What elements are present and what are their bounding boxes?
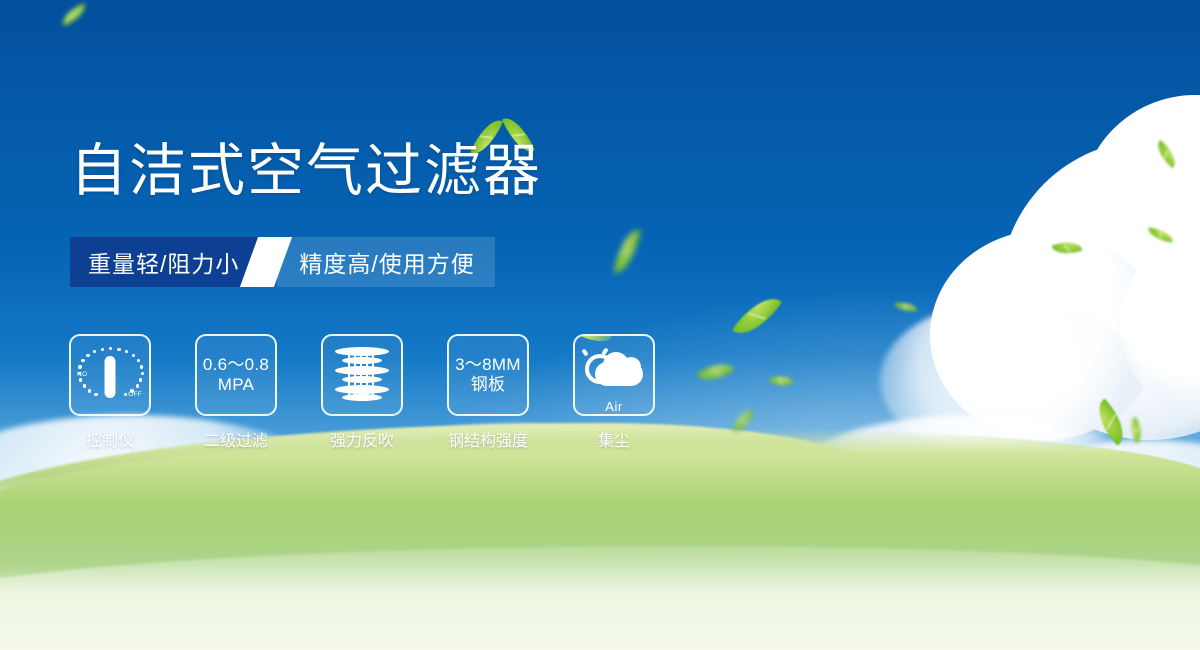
gauge-icon: NO OFF (79, 344, 141, 406)
cloud-bump-2 (621, 357, 641, 377)
steel-plate-text-icon: 3～8MM 钢板 (455, 355, 521, 395)
gauge-off-label: OFF (128, 391, 142, 398)
feature-icon-box: Air (573, 334, 655, 416)
grass-light-sheen (0, 507, 1200, 650)
steel-line-2: 钢板 (455, 375, 521, 395)
gauge-on-label: NO (77, 371, 87, 378)
feature-item-pressure[interactable]: 0.6～0.8 MPA 二级过滤 (196, 334, 276, 451)
feature-label: 集尘 (598, 427, 630, 451)
page-title: 自洁式空气过滤器 (70, 143, 542, 200)
feature-icon-box: NO OFF (69, 334, 151, 416)
cloud-air-icon: Air (583, 348, 645, 402)
feature-label: 二级过滤 (204, 427, 268, 451)
feature-label: 钢结构强度 (448, 427, 528, 451)
feature-item-steel[interactable]: 3～8MM 钢板 钢结构强度 (448, 334, 528, 451)
subtitle-bar: 重量轻/阻力小 精度高/使用方便 (70, 237, 495, 287)
product-banner: 自洁式空气过滤器 重量轻/阻力小 精度高/使用方便 (0, 0, 1200, 650)
pressure-text-icon: 0.6～0.8 MPA (203, 355, 269, 395)
feature-label: 控制仪 (86, 427, 134, 451)
feature-item-dust[interactable]: Air 集尘 (574, 334, 654, 451)
feature-icon-box: 0.6～0.8 MPA (195, 334, 277, 416)
filter-coil-icon (335, 347, 389, 403)
feature-list: NO OFF 控制仪 0.6～0.8 MPA 二级过滤 (70, 334, 654, 451)
pressure-line-1: 0.6～0.8 (203, 355, 269, 375)
gauge-needle (105, 356, 116, 398)
pressure-line-2: MPA (203, 375, 269, 395)
feature-icon-box (321, 334, 403, 416)
air-label: Air (583, 399, 645, 414)
subtitle-left: 重量轻/阻力小 (70, 237, 257, 287)
feature-item-blowback[interactable]: 强力反吹 (322, 334, 402, 451)
feature-label: 强力反吹 (330, 427, 394, 451)
subtitle-right: 精度高/使用方便 (277, 237, 494, 287)
feature-item-controller[interactable]: NO OFF 控制仪 (70, 334, 150, 451)
feature-icon-box: 3～8MM 钢板 (447, 334, 529, 416)
steel-line-1: 3～8MM (455, 355, 521, 375)
